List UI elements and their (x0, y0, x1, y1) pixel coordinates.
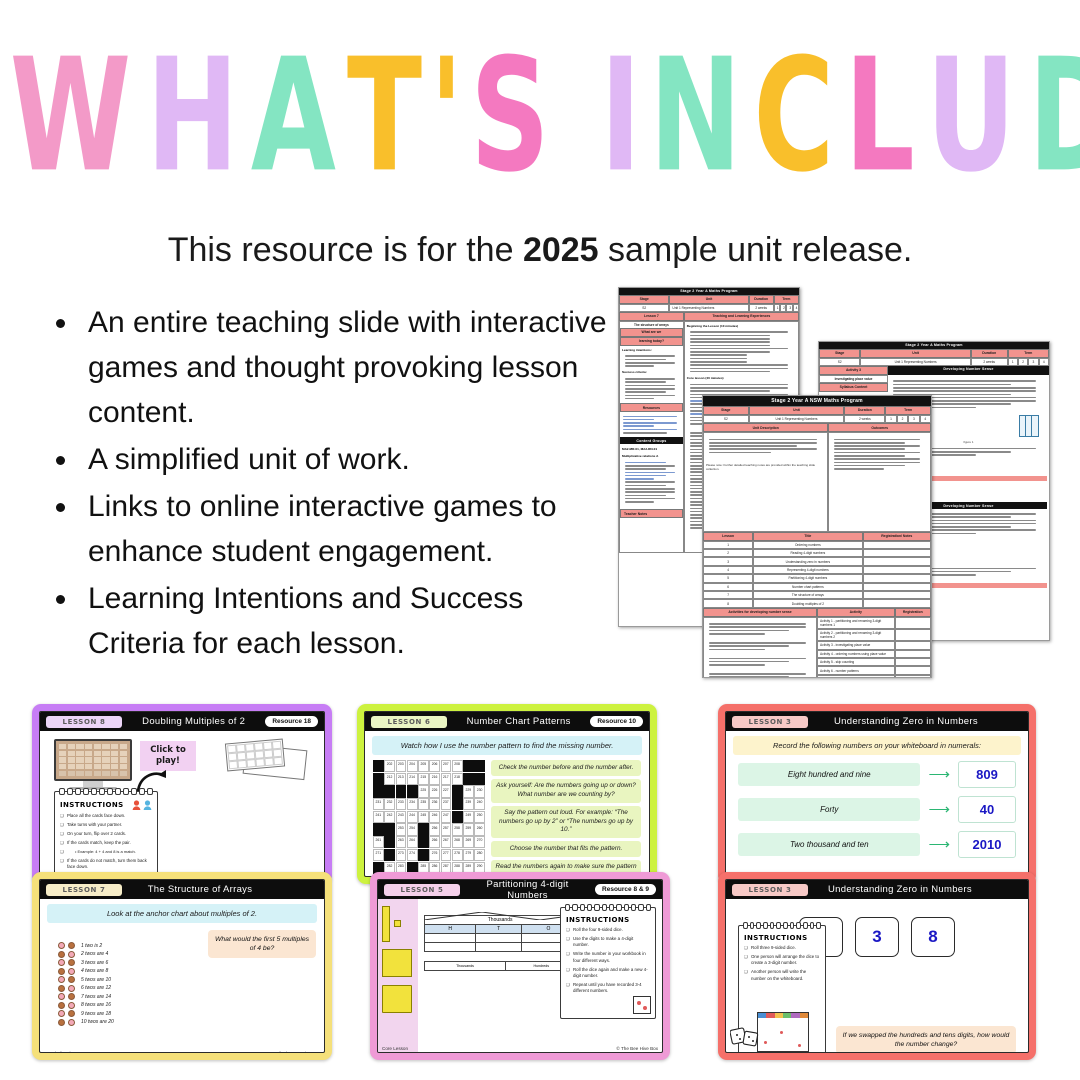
doc1-stage: S2 (619, 304, 669, 312)
doc1-term-4: 4 (793, 304, 799, 312)
card2-banner: Look at the anchor chart about multiples… (47, 904, 317, 923)
doc2-program-title: Stage 2 Year A NSW Maths Program (703, 396, 931, 406)
chart-cell[interactable]: 230 (474, 785, 485, 797)
table-row: Activity 7 - missing numbers (817, 675, 931, 678)
doc1-teaching-header: Teaching and Learning Experiences (684, 312, 799, 321)
array-row: 3 twos are 6 (58, 959, 114, 966)
mab-blocks-illustration (378, 899, 418, 1052)
card1-instructions-list: Place all the cards face down.Take turns… (60, 813, 152, 877)
instruction-item: If the cards match, keep the pair. (67, 840, 152, 846)
instructions-notepad: INSTRUCTIONS Place all the cards face do… (54, 791, 158, 877)
chart-cell[interactable]: 235 (418, 798, 429, 810)
card5-answer-rows: Eight hundred and nine⟶809Forty⟶40Two th… (726, 761, 1028, 858)
instruction-item: Take turns with your partner. (67, 822, 152, 828)
table-row: 7The structure of arrays (703, 591, 931, 599)
chart-cell[interactable]: 268 (452, 836, 463, 848)
doc3-activity-label: Activity 3 (819, 366, 888, 375)
instruction-item: Another person will write the number on … (751, 969, 820, 982)
monitor-preview[interactable] (54, 739, 132, 790)
table-row: Activity 5 - skip counting (817, 658, 931, 666)
chart-cell[interactable]: 206 (429, 760, 440, 772)
document-preview-unit-overview[interactable]: Stage 2 Year A NSW Maths Program Stage U… (702, 395, 932, 678)
chart-cell[interactable]: 249 (463, 811, 474, 823)
card6-title: Understanding Zero in Numbers (814, 884, 1022, 895)
doc3-program-title: Stage 2 Year A Maths Program (819, 342, 1049, 349)
doc2-lesson-col: Lesson (703, 532, 753, 541)
arrow-icon: ⟶ (928, 767, 950, 782)
doc2-stage: S2 (703, 415, 749, 423)
card6-lesson-badge: LESSON 3 (732, 884, 808, 896)
chart-cell[interactable]: 203 (396, 760, 407, 772)
step-strip: Check the number before and the number a… (491, 760, 641, 776)
doc3-unit: Unit 1 Representing Numbers (860, 358, 970, 366)
doc3-term-4: 4 (1039, 358, 1049, 366)
slide-card-doubling-multiples[interactable]: LESSON 8 Doubling Multiples of 2 Resourc… (32, 704, 332, 884)
chart-cell[interactable]: 215 (418, 773, 429, 785)
chart-cell[interactable]: 277 (441, 849, 452, 861)
whiteboard-thumbnail-icon (757, 1012, 809, 1052)
answer-row: Forty⟶40 (738, 796, 1016, 823)
table-row: 2Reading 4-digit numbers (703, 549, 931, 557)
spiral-binding-icon (565, 904, 651, 911)
digit-card[interactable]: 8 (911, 917, 955, 957)
card4-footer: Core Lesson © The Bee Hive Box (378, 1046, 662, 1052)
card2-footer-right: © The Bee Hive Box (278, 1051, 320, 1053)
chart-cell[interactable]: 240 (474, 798, 485, 810)
array-row: 4 twos are 8 (58, 968, 114, 975)
card-deck-illustration (226, 741, 314, 781)
chart-cell[interactable]: 229 (463, 785, 474, 797)
subtitle-before: This resource is for the (168, 231, 523, 269)
card2-lesson-badge: LESSON 7 (46, 884, 122, 896)
arrow-icon: ⟶ (928, 837, 950, 852)
step-strip: Say the pattern out loud. For example: “… (491, 806, 641, 839)
chart-cell[interactable]: 247 (441, 811, 452, 823)
chart-cell[interactable]: 271 (373, 849, 384, 861)
chart-cell-blank[interactable]: 272 (384, 849, 395, 861)
chart-cell[interactable]: 227 (441, 785, 452, 797)
title-letter-0: W (10, 34, 130, 200)
card4-instructions-list: Roll the four 9-sided dice.Use the digit… (566, 927, 650, 995)
doc1-teacher-notes: Teacher Notes (620, 509, 683, 518)
numeral-value: 2010 (958, 831, 1016, 858)
feature-list-item: A simplified unit of work. (80, 437, 616, 482)
doc3-h-term: Term (1008, 349, 1049, 358)
chart-cell[interactable]: 279 (463, 849, 474, 861)
chart-cell[interactable]: 259 (463, 823, 474, 835)
instruction-item: Roll the four 9-sided dice. (573, 927, 650, 933)
card1-title: Doubling Multiples of 2 (128, 716, 259, 727)
doc2-duration: 2 weeks (844, 415, 885, 423)
chart-cell-blank[interactable]: 210 (474, 760, 485, 772)
number-word: Forty (738, 798, 920, 821)
two-players-icon (132, 800, 152, 810)
doc1-program-title: Stage 2 Year A Maths Program (619, 288, 799, 295)
slide-card-number-chart-patterns[interactable]: LESSON 6 Number Chart Patterns Resource … (357, 704, 657, 884)
card3-titlebar: LESSON 6 Number Chart Patterns Resource … (365, 712, 649, 731)
answer-row: Two thousand and ten⟶2010 (738, 831, 1016, 858)
chart-cell[interactable]: 241 (373, 811, 384, 823)
chart-cell[interactable]: 257 (441, 823, 452, 835)
chart-cell[interactable]: 207 (441, 760, 452, 772)
doc3-h-stage: Stage (819, 349, 860, 358)
chart-cell-blank[interactable]: 255 (418, 823, 429, 835)
card3-lesson-badge: LESSON 6 (371, 716, 447, 728)
number-word: Two thousand and ten (738, 833, 920, 856)
card3-title: Number Chart Patterns (453, 716, 584, 727)
card1-instructions-title: INSTRUCTIONS (60, 801, 124, 809)
doc1-unit: Unit 1 Representing Numbers (669, 304, 748, 312)
doc2-activity-col: Activity (817, 608, 895, 617)
table-row: Activity 3 - investigating place value (817, 641, 931, 649)
doc3-syllabus-content: Syllabus Content (819, 383, 888, 392)
card2-footer: Concluding the Lesson © The Bee Hive Box (40, 1051, 324, 1053)
card4-lesson-badge: LESSON 5 (384, 884, 460, 896)
step-strip: Choose the number that fits the pattern. (491, 841, 641, 857)
card1-titlebar: LESSON 8 Doubling Multiples of 2 Resourc… (40, 712, 324, 731)
card4-resource-badge: Resource 8 & 9 (595, 884, 656, 895)
doc1-h-duration: Duration (749, 295, 774, 304)
card6-question: If we swapped the hundreds and tens digi… (836, 1026, 1016, 1053)
doc2-unit: Unit 1 Representing Numbers (749, 415, 845, 423)
step-strip: Ask yourself: Are the numbers going up o… (491, 779, 641, 803)
chart-cell-blank[interactable]: 223 (396, 785, 407, 797)
card5-lesson-badge: LESSON 3 (732, 716, 808, 728)
chart-cell-blank[interactable]: 238 (452, 798, 463, 810)
answer-row: Eight hundred and nine⟶809 (738, 761, 1016, 788)
chart-cell[interactable]: 267 (441, 836, 452, 848)
doc2-h-duration: Duration (844, 406, 885, 415)
chart-cell[interactable]: 266 (429, 836, 440, 848)
chart-cell[interactable]: 226 (429, 785, 440, 797)
chart-cell[interactable]: 216 (429, 773, 440, 785)
table-row: 5Partitioning 4-digit numbers (703, 574, 931, 582)
chart-cell[interactable]: 274 (407, 849, 418, 861)
instruction-item: Roll the dice again and make a new 4-dig… (573, 967, 650, 980)
card5-titlebar: LESSON 3 Understanding Zero in Numbers (726, 712, 1028, 731)
doc1-resources: Resources (620, 403, 683, 412)
chart-cell[interactable]: 237 (441, 798, 452, 810)
instruction-item: Write the number in your workbook in fou… (573, 951, 650, 964)
chart-cell[interactable]: 253 (396, 823, 407, 835)
instruction-item: On your turn, flip over 2 cards. (67, 831, 152, 837)
instruction-item: One person will arrange the dice to crea… (751, 954, 820, 967)
chart-cell[interactable]: 204 (407, 760, 418, 772)
card6-titlebar: LESSON 3 Understanding Zero in Numbers (726, 880, 1028, 899)
chart-cell-blank[interactable]: 262 (384, 836, 395, 848)
chart-cell-blank[interactable]: 252 (384, 823, 395, 835)
table-row: Activity 6 - number patterns (817, 666, 931, 674)
doc2-h-term: Term (885, 406, 931, 415)
array-row: 10 twos are 20 (58, 1019, 114, 1026)
card4-footer-right: © The Bee Hive Box (616, 1046, 658, 1051)
doc2-registration-col2: Registration (895, 608, 931, 617)
doc3-duration: 2 weeks (971, 358, 1008, 366)
chart-cell-blank[interactable]: 228 (452, 785, 463, 797)
chart-cell[interactable]: 243 (396, 811, 407, 823)
title-letter-11: U (926, 34, 1014, 200)
array-row: 8 twos are 16 (58, 1002, 114, 1009)
doc2-title-col: Title (753, 532, 862, 541)
instruction-item: Repeat until you have recorded 3-4 diffe… (573, 982, 650, 995)
chart-cell[interactable]: 236 (429, 798, 440, 810)
chart-cell-blank[interactable]: 209 (463, 760, 474, 772)
chart-cell[interactable]: 269 (463, 836, 474, 848)
doc2-lessons-table: 1Ordering numbers2Reading 4-digit number… (703, 541, 931, 608)
pv-header: T (476, 925, 521, 934)
chart-cell[interactable]: 244 (407, 811, 418, 823)
doc2-activities-table: Activity 1 - partitioning and renaming 3… (817, 617, 931, 679)
instruction-item: Roll three 9-sided dice. (751, 945, 820, 951)
card4-titlebar: LESSON 5 Partitioning 4-digit Numbers Re… (378, 880, 662, 899)
title-letter-7: I (600, 34, 639, 200)
instruction-item: Use the digits to make a 4-digit number. (573, 936, 650, 949)
number-word: Eight hundred and nine (738, 763, 920, 786)
chart-cell-blank[interactable]: 224 (407, 785, 418, 797)
chart-cell[interactable]: 276 (429, 849, 440, 861)
doc1-what-are-we: What are we (620, 328, 683, 337)
document-previews: Stage 2 Year A Maths Program Stage Unit … (610, 283, 1055, 678)
card6-instructions-title: INSTRUCTIONS (744, 934, 820, 942)
card1-resource-badge: Resource 18 (265, 716, 318, 727)
doc1-lesson-label: Lesson 7 (619, 312, 684, 321)
chart-cell-blank[interactable]: 222 (384, 785, 395, 797)
doc2-h-unit: Unit (749, 406, 845, 415)
title-letter-12: D (1028, 34, 1080, 200)
doc2-term-3: 3 (908, 415, 919, 423)
chart-cell-blank[interactable]: 265 (418, 836, 429, 848)
chart-cell[interactable]: 232 (384, 798, 395, 810)
doc1-learning-today: learning today? (620, 337, 683, 346)
slide-card-grid: LESSON 8 Doubling Multiples of 2 Resourc… (0, 700, 1080, 1080)
chart-cell[interactable]: 278 (452, 849, 463, 861)
feature-list-item: An entire teaching slide with interactiv… (80, 300, 616, 435)
table-row: 3Understanding zero in numbers (703, 557, 931, 565)
doc3-term-1: 1 (1008, 358, 1018, 366)
array-row: 6 twos are 12 (58, 985, 114, 992)
arrow-icon: ⟶ (928, 802, 950, 817)
chart-cell-blank[interactable]: 251 (373, 823, 384, 835)
feature-list: An entire teaching slide with interactiv… (56, 300, 616, 668)
title-letter-9: C (754, 34, 833, 200)
title-letter-5: S (470, 34, 548, 200)
instruction-subitem: • Example: 4 + 4 and 8 is a match. (67, 849, 152, 855)
doc2-registration-col: Registration/ Notes (863, 532, 931, 541)
chart-cell[interactable]: 233 (396, 798, 407, 810)
slide-page: WHAT'S INCLUDED This resource is for the… (0, 0, 1080, 1080)
chart-cell[interactable]: 270 (474, 836, 485, 848)
card4-footer-left: Core Lesson (382, 1046, 408, 1051)
doc1-content-groups: Content Groups (620, 437, 683, 444)
title-letter-8: N (650, 34, 740, 200)
chart-cell[interactable]: 280 (474, 849, 485, 861)
instruction-item: Place all the cards face down. (67, 813, 152, 819)
chart-cell-blank[interactable]: 221 (373, 785, 384, 797)
doc2-term-4: 4 (920, 415, 931, 423)
spiral-binding-icon (743, 922, 821, 929)
title-letter-6 (557, 34, 594, 200)
doc3-term-2: 2 (1018, 358, 1028, 366)
card3-steps-list: Check the number before and the number a… (491, 760, 641, 877)
chart-cell[interactable]: 245 (418, 811, 429, 823)
card5-banner: Record the following numbers on your whi… (733, 736, 1021, 755)
hundreds-chart[interactable]: 2012022032042052062072082092102112122132… (373, 760, 485, 877)
doc3-activity-title: Investigating place value (819, 375, 888, 383)
chart-cell[interactable]: 212 (384, 773, 395, 785)
doc3-stage: S2 (819, 358, 860, 366)
slide-card-understanding-zero-record[interactable]: LESSON 3 Understanding Zero in Numbers R… (718, 704, 1036, 884)
array-row: 9 twos are 18 (58, 1010, 114, 1017)
chart-cell[interactable]: 202 (384, 760, 395, 772)
doc2-term-1: 1 (885, 415, 896, 423)
chart-cell[interactable]: 260 (474, 823, 485, 835)
chart-cell[interactable]: 218 (452, 773, 463, 785)
chart-cell-blank[interactable]: 211 (373, 773, 384, 785)
card4-instructions-title: INSTRUCTIONS (566, 916, 650, 924)
table-row: 8Doubling multiples of 2 (703, 599, 931, 607)
doc2-term-2: 2 (897, 415, 908, 423)
doc3-h-duration: Duration (971, 349, 1008, 358)
title-letter-2: A (251, 34, 334, 200)
subtitle: This resource is for the 2025 sample uni… (0, 228, 1080, 272)
title-letter-10: L (845, 34, 913, 200)
chart-cell-blank[interactable]: 220 (474, 773, 485, 785)
table-row: 6Number chart patterns (703, 583, 931, 591)
numeral-value: 809 (958, 761, 1016, 788)
feature-list-item: Links to online interactive games to enh… (80, 484, 616, 574)
chart-cell[interactable]: 273 (396, 849, 407, 861)
chart-cell[interactable]: 239 (463, 798, 474, 810)
page-title: WHAT'S INCLUDED (0, 34, 1080, 170)
array-row: 7 twos are 14 (58, 993, 114, 1000)
chart-cell[interactable]: 205 (418, 760, 429, 772)
doc1-h-term: Term (774, 295, 799, 304)
array-row: 2 twos are 4 (58, 951, 114, 958)
table-row: Activity 2 - partitioning and renaming 3… (817, 629, 931, 641)
chart-cell[interactable]: 254 (407, 823, 418, 835)
slide-card-understanding-zero-dice[interactable]: LESSON 3 Understanding Zero in Numbers I… (718, 872, 1036, 1060)
doc1-h-stage: Stage (619, 295, 669, 304)
pv-word: Thousands (425, 962, 506, 971)
table-row: Activity 4 - ordering numbers using plac… (817, 650, 931, 658)
chart-cell[interactable]: 234 (407, 798, 418, 810)
chart-cell-blank[interactable]: 275 (418, 849, 429, 861)
doc2-h-stage: Stage (703, 406, 749, 415)
chart-cell-blank[interactable]: 219 (463, 773, 474, 785)
doc3-section-header: Developing Number Sense (888, 366, 1049, 375)
chart-cell[interactable]: 214 (407, 773, 418, 785)
slide-card-partitioning[interactable]: LESSON 5 Partitioning 4-digit Numbers Re… (370, 872, 670, 1060)
card3-banner: Watch how I use the number pattern to fi… (372, 736, 642, 755)
chart-cell[interactable]: 242 (384, 811, 395, 823)
doc2-outcomes-header: Outcomes (828, 423, 931, 432)
array-row: 5 twos are 10 (58, 976, 114, 983)
table-row: 4Representing 4-digit numbers (703, 566, 931, 574)
doc3-term-3: 3 (1028, 358, 1038, 366)
spiral-binding-icon (59, 788, 153, 795)
table-row: Activity 1 - partitioning and renaming 3… (817, 617, 931, 629)
card5-title: Understanding Zero in Numbers (814, 716, 1022, 727)
card2-footer-left: Concluding the Lesson (44, 1051, 91, 1053)
card2-titlebar: LESSON 7 The Structure of Arrays (40, 880, 324, 899)
pv-header: H (425, 925, 476, 934)
doc2-activities-header: Activities for developing number sense (703, 608, 817, 617)
title-letter-1: H (147, 34, 237, 200)
digit-card[interactable]: 3 (855, 917, 899, 957)
chart-cell[interactable]: 258 (452, 823, 463, 835)
instructions-notepad: INSTRUCTIONS Roll the four 9-sided dice.… (560, 907, 656, 1019)
chart-cell[interactable]: 231 (373, 798, 384, 810)
card3-resource-badge: Resource 10 (590, 716, 643, 727)
instruction-item: If the cards do not match, turn them bac… (67, 858, 152, 871)
chart-cell[interactable]: 264 (407, 836, 418, 848)
chart-cell[interactable]: 246 (429, 811, 440, 823)
numeral-value: 40 (958, 796, 1016, 823)
doc2-unit-description-header: Unit Description (703, 423, 828, 432)
slide-card-structure-of-arrays[interactable]: LESSON 7 The Structure of Arrays Look at… (32, 872, 332, 1060)
subtitle-after: sample unit release. (599, 231, 913, 269)
dice-icon (730, 1023, 764, 1053)
card2-title: The Structure of Arrays (128, 884, 272, 895)
chart-cell[interactable]: 250 (474, 811, 485, 823)
feature-list-item: Learning Intentions and Success Criteria… (80, 576, 616, 666)
chart-cell[interactable]: 217 (441, 773, 452, 785)
chart-cell-blank[interactable]: 201 (373, 760, 384, 772)
chart-cell[interactable]: 256 (429, 823, 440, 835)
chart-cell[interactable]: 213 (396, 773, 407, 785)
card4-title: Partitioning 4-digit Numbers (466, 879, 589, 901)
card1-lesson-badge: LESSON 8 (46, 716, 122, 728)
card2-question: What would the first 5 multiples of 4 be… (208, 930, 316, 958)
chart-cell[interactable]: 261 (373, 836, 384, 848)
doc1-duration: 2 weeks (749, 304, 774, 312)
array-row: 1 two is 2 (58, 942, 114, 949)
dice-thumbnail-icon (633, 996, 651, 1014)
card6-instructions-list: Roll three 9-sided dice.One person will … (744, 945, 820, 982)
array-anchor-chart: 1 two is 22 twos are 43 twos are 64 twos… (58, 942, 114, 1027)
doc1-h-unit: Unit (669, 295, 748, 304)
title-letter-3: T (347, 34, 420, 200)
table-row: 1Ordering numbers (703, 541, 931, 549)
chart-cell[interactable]: 263 (396, 836, 407, 848)
doc3-h-unit: Unit (860, 349, 970, 358)
chart-cell[interactable]: 225 (418, 785, 429, 797)
subtitle-year: 2025 (523, 231, 599, 269)
chart-cell-blank[interactable]: 248 (452, 811, 463, 823)
doc2-please-note: Please note: Further detailed teaching n… (706, 463, 825, 471)
chart-cell[interactable]: 208 (452, 760, 463, 772)
title-letter-4: ' (429, 34, 461, 200)
